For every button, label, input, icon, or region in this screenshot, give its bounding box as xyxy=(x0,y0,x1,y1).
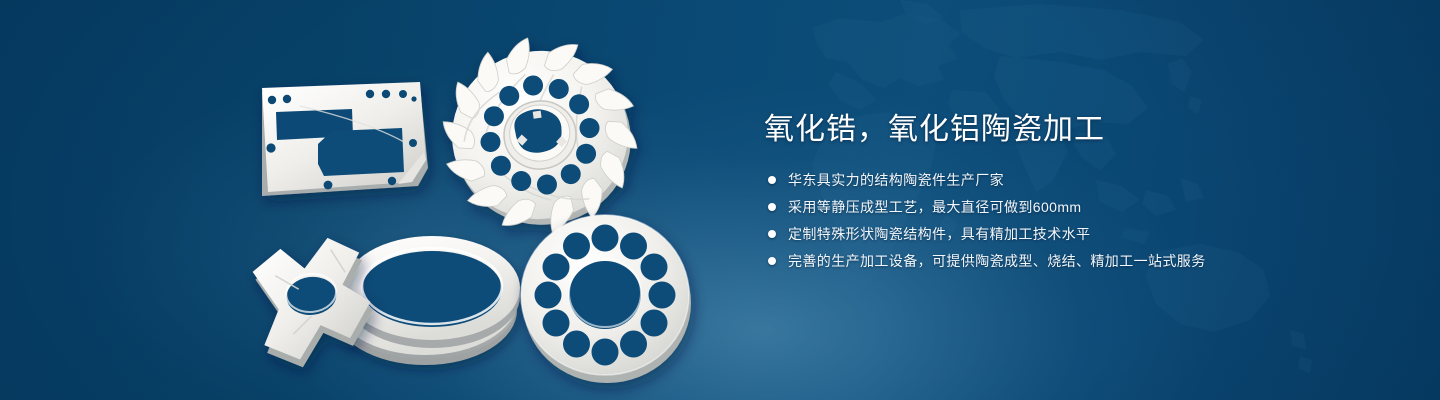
promo-banner: 氧化锆，氧化铝陶瓷加工 华东具实力的结构陶瓷件生产厂家 采用等静压成型工艺，最大… xyxy=(0,0,1440,400)
bullet-dot-icon xyxy=(768,257,776,265)
banner-headline: 氧化锆，氧化铝陶瓷加工 xyxy=(764,112,1324,147)
feature-text: 华东具实力的结构陶瓷件生产厂家 xyxy=(788,170,1004,190)
product-photo-group xyxy=(0,0,740,400)
banner-text-block: 氧化锆，氧化铝陶瓷加工 华东具实力的结构陶瓷件生产厂家 采用等静压成型工艺，最大… xyxy=(764,112,1324,277)
ceramic-impeller xyxy=(430,23,651,246)
list-item: 华东具实力的结构陶瓷件生产厂家 xyxy=(764,169,1324,190)
ceramic-perforated-disc xyxy=(521,215,691,383)
bullet-dot-icon xyxy=(768,230,776,238)
bullet-dot-icon xyxy=(768,203,776,211)
list-item: 完善的生产加工设备，可提供陶瓷成型、烧结、精加工一站式服务 xyxy=(764,250,1324,271)
feature-text: 采用等静压成型工艺，最大直径可做到600mm xyxy=(788,197,1081,217)
bullet-dot-icon xyxy=(768,176,776,184)
feature-list: 华东具实力的结构陶瓷件生产厂家 采用等静压成型工艺，最大直径可做到600mm 定… xyxy=(764,169,1324,271)
list-item: 定制特殊形状陶瓷结构件，具有精加工技术水平 xyxy=(764,223,1324,244)
feature-text: 定制特殊形状陶瓷结构件，具有精加工技术水平 xyxy=(788,224,1090,244)
ceramic-mounting-plate xyxy=(262,82,428,196)
ceramic-cross-plate xyxy=(250,234,379,371)
feature-text: 完善的生产加工设备，可提供陶瓷成型、烧结、精加工一站式服务 xyxy=(788,251,1206,271)
list-item: 采用等静压成型工艺，最大直径可做到600mm xyxy=(764,196,1324,217)
